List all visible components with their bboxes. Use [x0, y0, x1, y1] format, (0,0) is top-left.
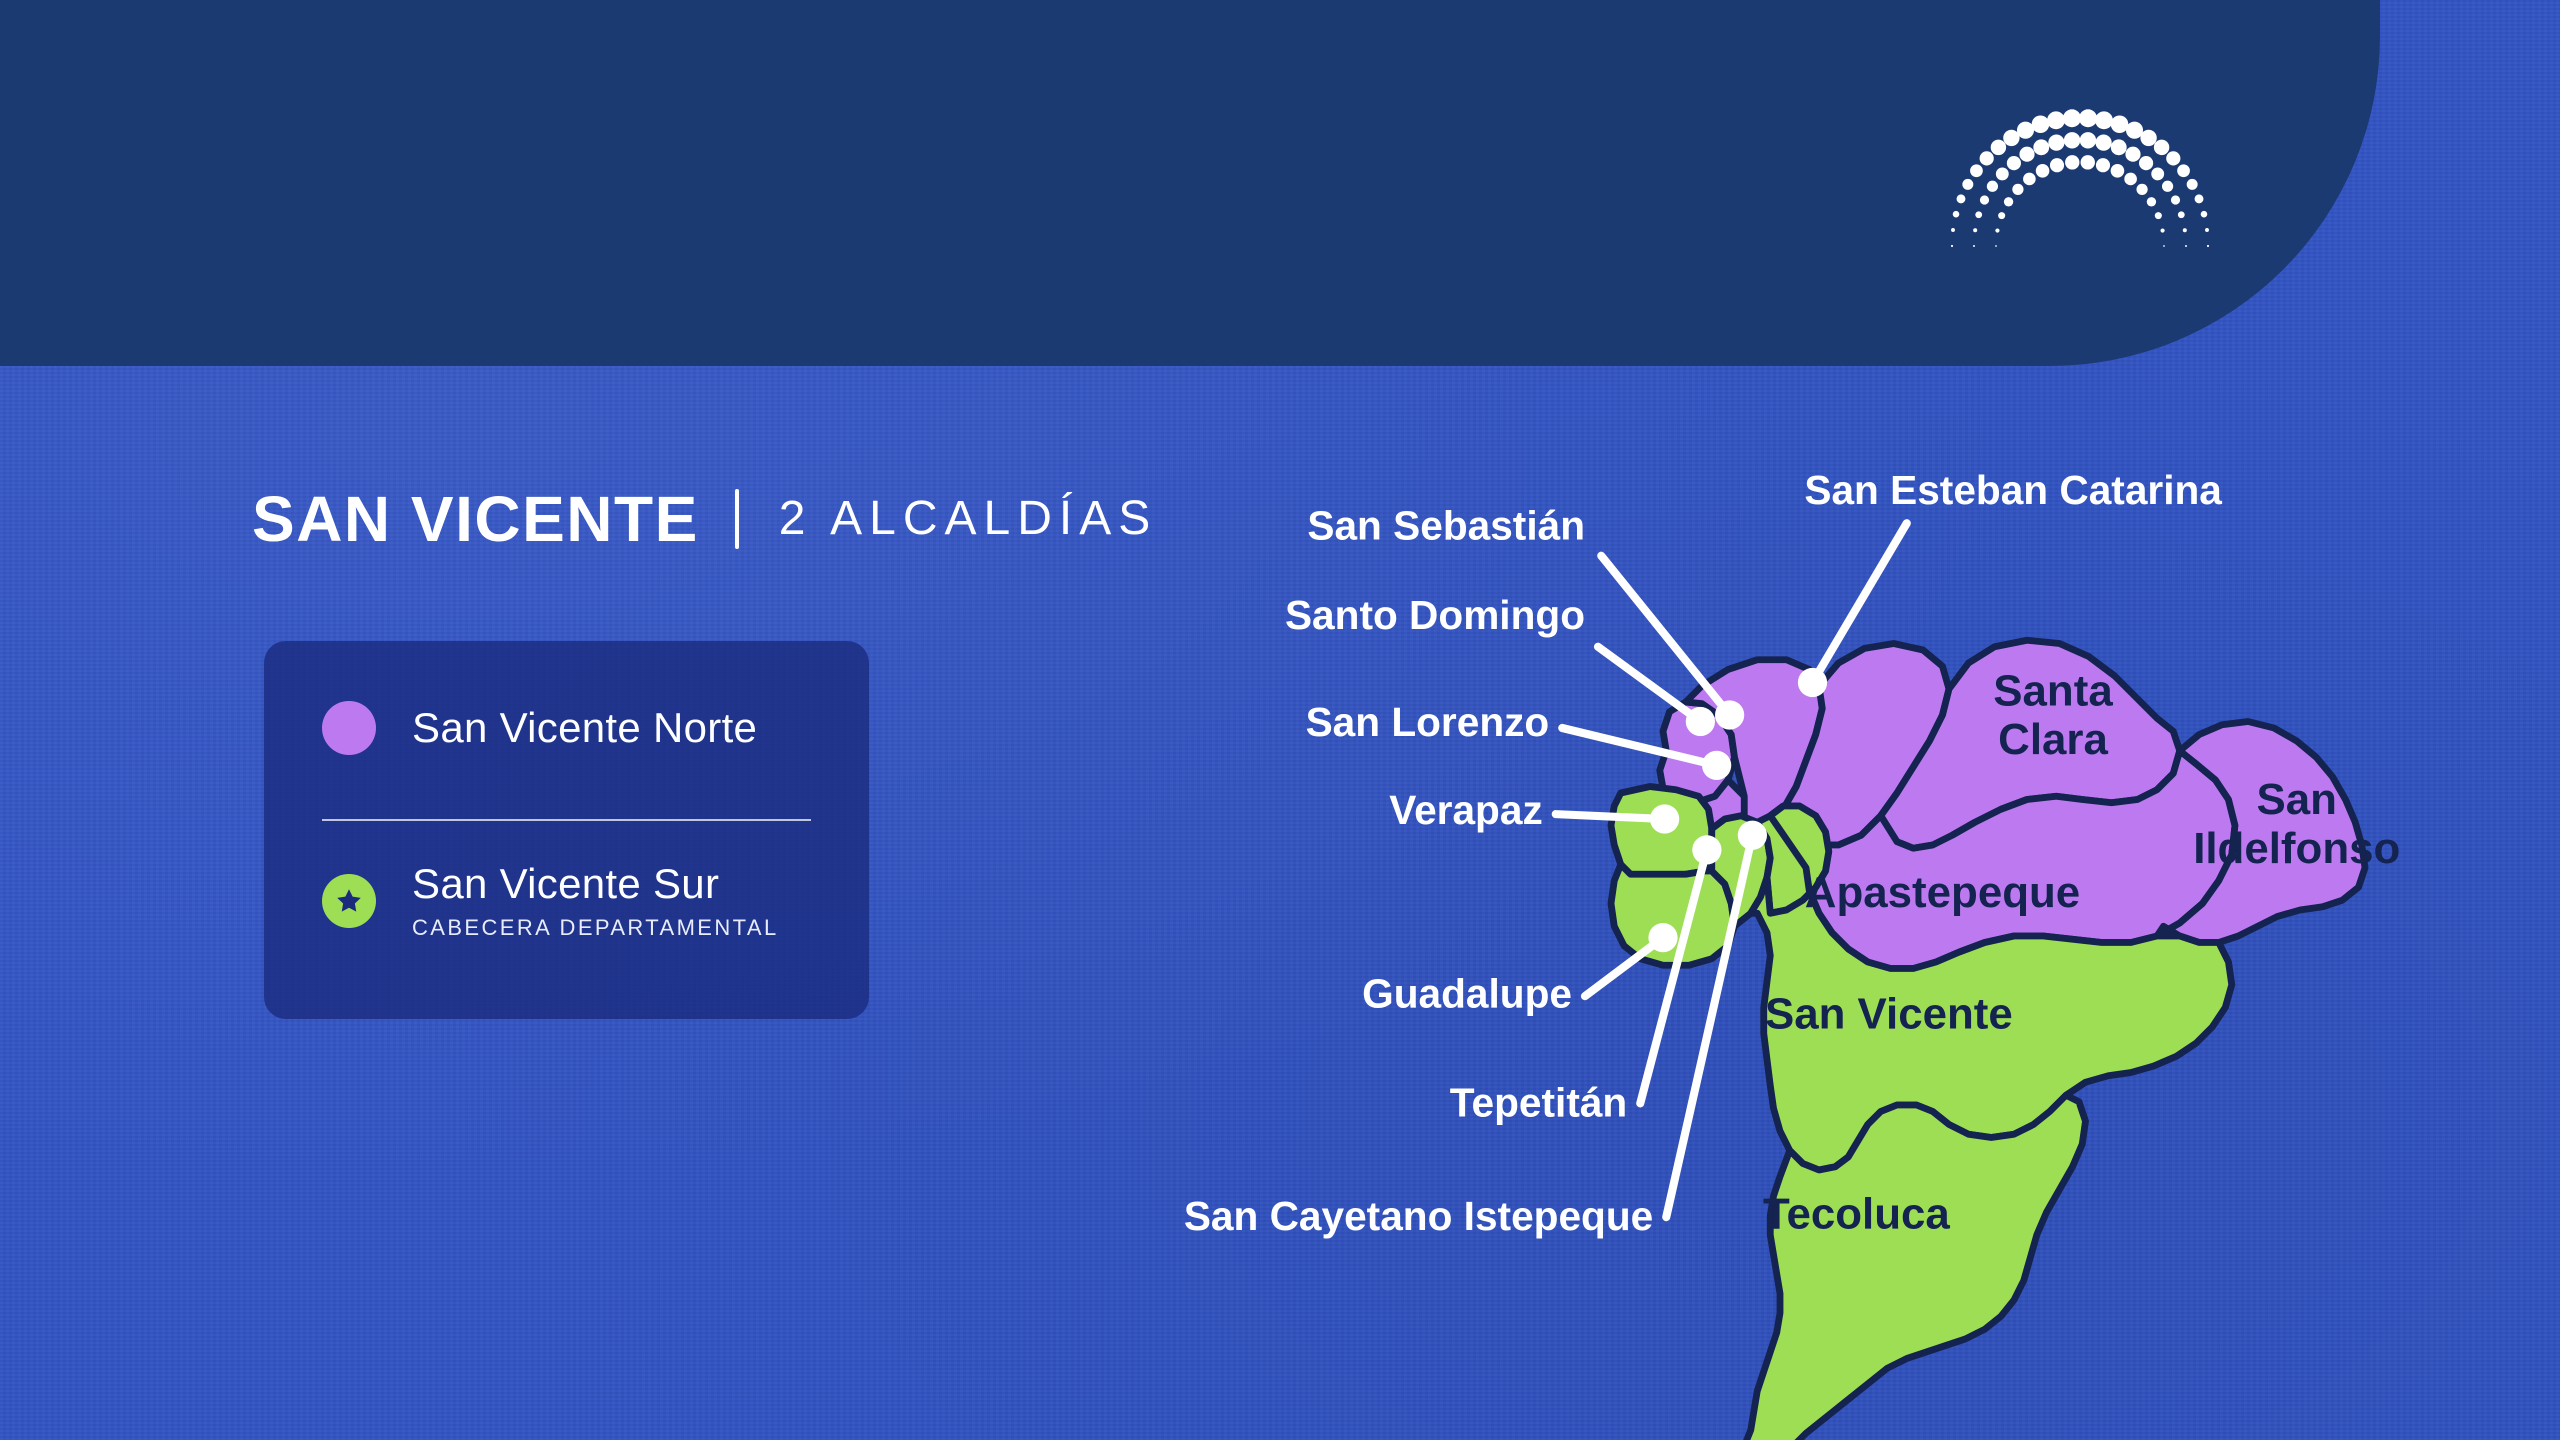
legend-item-san-vicente-norte[interactable]: San Vicente Norte — [322, 641, 811, 815]
circle-swatch-icon — [322, 701, 376, 755]
alcaldias-count: 2 ALCALDÍAS — [779, 495, 1158, 543]
map-container[interactable]: San SebastiánSan Esteban CatarinaSanto D… — [1260, 380, 2560, 1440]
leader-line — [1556, 814, 1665, 819]
legend-item-san-vicente-sur[interactable]: San Vicente Sur CABECERA DEPARTAMENTAL — [322, 815, 811, 987]
leader-dot — [1715, 700, 1744, 729]
leader-dot — [1648, 923, 1677, 952]
map-region-label-santa-clara: SantaClara — [1993, 666, 2113, 764]
page-title: SAN VICENTE 2 ALCALDÍAS — [252, 487, 1157, 551]
map-callout-label: San Lorenzo — [1306, 699, 1550, 745]
map-callout-label: Verapaz — [1389, 787, 1543, 833]
map-region-label-tecoluca: Tecoluca — [1763, 1190, 1950, 1239]
map-callout-label: San Cayetano Istepeque — [1184, 1193, 1653, 1239]
map-callout-label: Guadalupe — [1362, 971, 1572, 1017]
leader-dot — [1686, 707, 1715, 736]
map-callout-label: San Sebastián — [1307, 503, 1585, 549]
map-region-label-apastepeque: Apastepeque — [1805, 868, 2080, 917]
map-callout-label: Santo Domingo — [1285, 592, 1585, 638]
leader-dot — [1798, 668, 1827, 697]
legend-item-sublabel: CABECERA DEPARTAMENTAL — [412, 915, 779, 941]
leader-dot — [1738, 821, 1767, 850]
leader-dot — [1692, 835, 1721, 864]
legend-item-label: San Vicente Sur — [412, 861, 779, 906]
map-callout-label: San Esteban Catarina — [1804, 467, 2222, 513]
legend-panel: San Vicente Norte San Vicente Sur CABECE… — [264, 641, 869, 1019]
department-name: SAN VICENTE — [252, 487, 699, 551]
map-callout-label: Tepetitán — [1450, 1079, 1628, 1125]
map-region-label-san-vicente: San Vicente — [1765, 990, 2013, 1039]
title-divider — [735, 489, 739, 549]
leader-dot — [1650, 804, 1679, 833]
legend-divider — [322, 819, 811, 821]
san-vicente-map[interactable]: San SebastiánSan Esteban CatarinaSanto D… — [1260, 380, 2560, 1440]
halftone-arc-logo-icon — [1880, 50, 2280, 250]
header-bar — [0, 0, 2380, 366]
leader-dot — [1702, 751, 1731, 780]
map-region-tecoluca[interactable] — [1696, 1095, 2086, 1440]
star-swatch-icon — [322, 874, 376, 928]
legend-item-label: San Vicente Norte — [412, 705, 757, 750]
